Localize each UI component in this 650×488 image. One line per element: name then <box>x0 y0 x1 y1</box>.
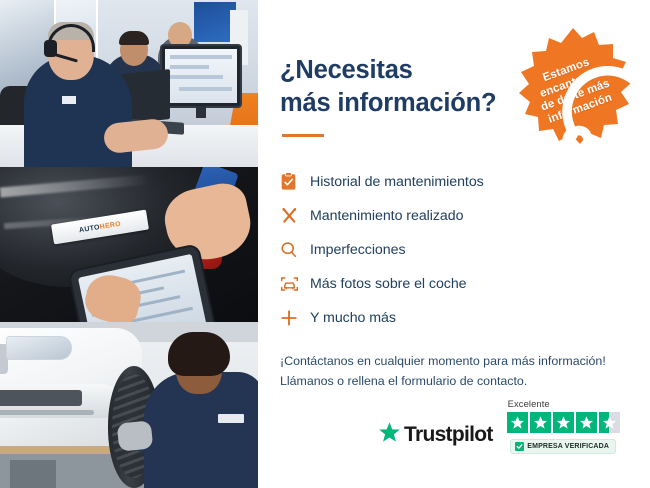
support-badge: Estamos encantados de darte más informac… <box>512 26 634 148</box>
contact-line-1: ¡Contáctanos en cualquier momento para m… <box>280 351 640 371</box>
feature-item-much-more: Y mucho más <box>280 301 650 334</box>
screen-row <box>170 65 209 69</box>
trustpilot-widget[interactable]: Trustpilot Excelente <box>378 398 620 454</box>
feature-item-more-photos: Más fotos sobre el coche <box>280 267 650 300</box>
chrome-trim <box>0 410 94 415</box>
title-divider <box>282 134 324 137</box>
desktop-monitor <box>162 46 240 106</box>
photo-column: AUTOHERO <box>0 0 258 488</box>
inspection-ruler-photo: AUTOHERO <box>0 167 258 322</box>
car-scan-icon <box>280 275 310 293</box>
monitor-stand <box>196 106 206 118</box>
heading-line-2: más información? <box>280 89 496 117</box>
trustpilot-wordmark: Trustpilot <box>404 423 493 447</box>
clipboard-check-icon <box>280 172 310 191</box>
check-icon <box>515 442 524 451</box>
monitor-screen <box>165 49 237 103</box>
mechanic-wheel-photo <box>0 322 258 488</box>
second-agent-hair <box>119 31 149 45</box>
star-filled <box>576 412 597 433</box>
verified-company-badge: EMPRESA VERIFICADA <box>510 439 616 454</box>
mechanic-hair <box>168 332 230 376</box>
background-colleague-head <box>168 22 192 48</box>
trustpilot-rating-label: Excelente <box>508 398 550 409</box>
trustpilot-stars <box>507 412 620 433</box>
content-column: ¿Necesitas más información? Estamos <box>258 0 650 488</box>
trustpilot-star-icon <box>378 421 401 449</box>
call-center-agent-photo <box>0 0 258 167</box>
autohero-ruler-brand: AUTOHERO <box>79 220 122 234</box>
plus-icon <box>280 309 310 327</box>
mechanic-glove <box>117 420 154 451</box>
star-filled <box>553 412 574 433</box>
mechanic-uniform-logo <box>218 414 244 423</box>
heading-line-1: ¿Necesitas <box>280 56 413 84</box>
star-filled <box>507 412 528 433</box>
star-half <box>599 412 620 433</box>
feature-label: Mantenimiento realizado <box>310 208 463 224</box>
verified-company-label: EMPRESA VERIFICADA <box>527 443 609 450</box>
car-headlight <box>6 336 72 360</box>
trustpilot-logo[interactable]: Trustpilot <box>378 421 493 454</box>
screen-row <box>170 75 223 79</box>
trustpilot-rating: Excelente <box>507 398 620 454</box>
bumper-vent <box>0 390 82 406</box>
feature-list: Historial de mantenimientos Mantenimient… <box>280 165 650 334</box>
car-lift-arm <box>10 460 56 488</box>
screen-row <box>170 55 232 59</box>
contact-text: ¡Contáctanos en cualquier momento para m… <box>280 351 640 391</box>
magnifier-icon <box>280 241 310 259</box>
tools-icon <box>280 206 310 225</box>
screen-row <box>179 87 232 91</box>
feature-item-maintenance-done: Mantenimiento realizado <box>280 199 650 232</box>
feature-label: Historial de mantenimientos <box>310 174 484 190</box>
feature-item-imperfections: Imperfecciones <box>280 233 650 266</box>
star-filled <box>530 412 551 433</box>
information-banner: AUTOHERO <box>0 0 650 488</box>
feature-label: Y mucho más <box>310 310 396 326</box>
agent-name-badge <box>62 96 76 104</box>
feature-label: Imperfecciones <box>310 242 406 258</box>
contact-line-2: Llámanos o rellena el formulario de cont… <box>280 371 640 391</box>
feature-label: Más fotos sobre el coche <box>310 276 467 292</box>
page-title: ¿Necesitas más información? <box>280 54 520 120</box>
